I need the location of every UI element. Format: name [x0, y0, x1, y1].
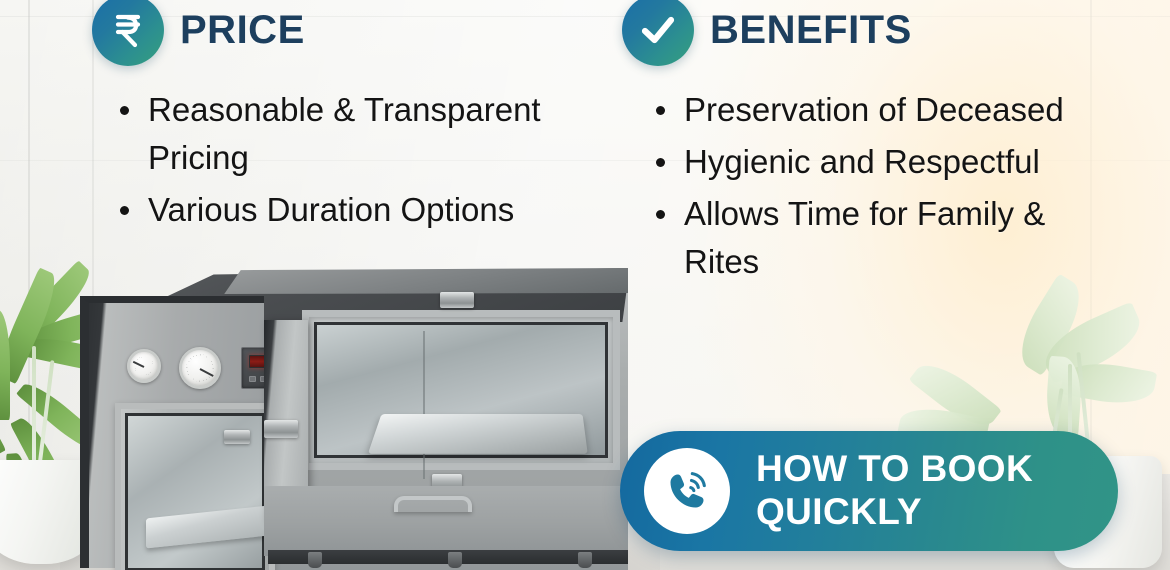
cta-line-1: HOW TO BOOK [756, 448, 1033, 491]
list-item: Allows Time for Family & Rites [648, 190, 1118, 286]
front-glass-door [115, 403, 275, 570]
cabinet-base-rail [268, 550, 628, 564]
rupee-icon [92, 0, 164, 66]
how-to-book-cta-button[interactable]: HOW TO BOOK QUICKLY [620, 431, 1118, 551]
control-button [249, 376, 256, 382]
gauge-ticks [134, 356, 154, 376]
price-bullet-list: Reasonable & Transparent Pricing Various… [112, 86, 612, 238]
caster-wheel [308, 552, 322, 568]
promo-poster: PRICE BENEFITS Reasonable & Transparent … [0, 0, 1170, 570]
caster-wheel [578, 552, 592, 568]
analog-gauge-right [179, 347, 221, 389]
benefits-section-header: BENEFITS [622, 0, 912, 66]
mortuary-freezer-cabinet [68, 268, 628, 570]
check-icon [622, 0, 694, 66]
drawer-pull-handle [394, 496, 472, 512]
analog-gauge-left [127, 349, 161, 383]
side-glass-chamber [302, 310, 620, 470]
front-stainless-tray [146, 506, 268, 549]
caster-wheel [448, 552, 462, 568]
list-item: Various Duration Options [112, 186, 612, 234]
cta-label: HOW TO BOOK QUICKLY [756, 448, 1033, 533]
list-item: Preservation of Deceased [648, 86, 1118, 134]
chamber-seam [423, 331, 425, 479]
gauge-ticks [186, 354, 214, 382]
list-item: Hygienic and Respectful [648, 138, 1118, 186]
cabinet-top-plate [216, 268, 628, 294]
door-hinge-top [440, 292, 474, 308]
front-door-latch [224, 430, 250, 444]
side-stainless-tray [368, 414, 588, 454]
phone-call-icon [644, 448, 730, 534]
door-hinge-middle [264, 420, 298, 438]
price-section-header: PRICE [92, 0, 305, 66]
benefits-bullet-list: Preservation of Deceased Hygienic and Re… [648, 86, 1118, 289]
cta-line-2: QUICKLY [756, 491, 1033, 534]
benefits-title: BENEFITS [710, 8, 912, 53]
price-title: PRICE [180, 8, 305, 53]
list-item: Reasonable & Transparent Pricing [112, 86, 612, 182]
side-chamber-glass [314, 322, 608, 458]
